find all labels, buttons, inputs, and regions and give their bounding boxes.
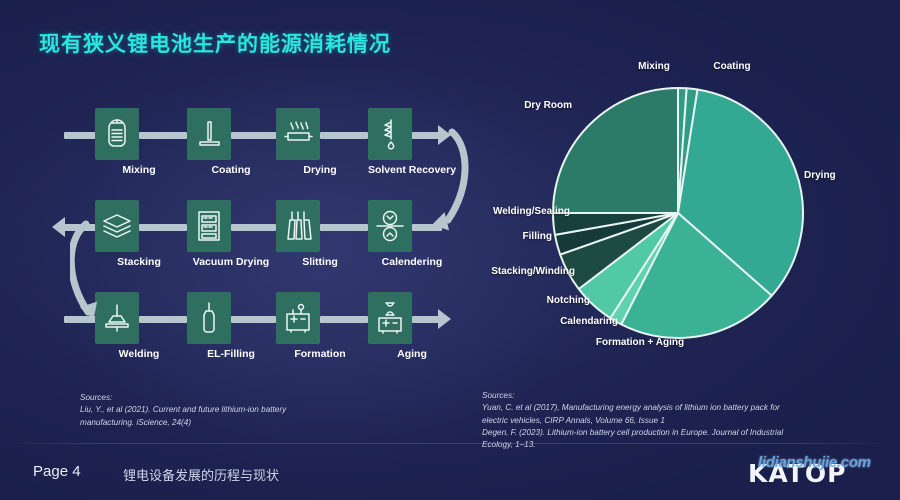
flow-step-tile-calendering[interactable] bbox=[368, 200, 412, 252]
mixer-tank-icon bbox=[102, 117, 132, 151]
flow-connector bbox=[231, 132, 276, 139]
drying-oven-icon bbox=[283, 117, 313, 151]
stacked-sheets-icon bbox=[101, 210, 133, 242]
flow-connector bbox=[320, 316, 368, 323]
flow-step-tile-vacuum-drying[interactable] bbox=[187, 200, 231, 252]
flow-connector bbox=[64, 132, 98, 139]
flow-step-tile-drying[interactable] bbox=[276, 108, 320, 160]
energy-consumption-pie-chart: MixingCoatingDryingFormation + AgingCale… bbox=[440, 55, 900, 375]
flow-sources-line: Liu, Y., et al (2021). Current and futur… bbox=[80, 404, 380, 416]
flow-sources-line: manufacturing. iScience, 24(4) bbox=[80, 417, 380, 429]
pie-label-drying: Drying bbox=[804, 170, 836, 181]
watermark-text: lidianshujie.com bbox=[758, 454, 871, 471]
pie-label-filling: Filling bbox=[523, 231, 552, 242]
pie-sources-heading: Sources: bbox=[482, 390, 872, 402]
flow-arrow-left-icon bbox=[52, 217, 65, 237]
process-flow-diagram: Mixing Coating Drying Solvent Recovery S… bbox=[70, 108, 440, 373]
flow-sources-heading: Sources: bbox=[80, 392, 380, 404]
pie-sources-line: Ecology, 1–13. bbox=[482, 439, 872, 451]
flow-step-tile-slitting[interactable] bbox=[276, 200, 320, 252]
flow-connector bbox=[64, 316, 98, 323]
pie-label-stacking-winding: Stacking/Winding bbox=[491, 266, 575, 277]
flow-step-tile-aging[interactable] bbox=[368, 292, 412, 344]
flow-sources: Sources: Liu, Y., et al (2021). Current … bbox=[80, 392, 380, 429]
flow-step-tile-coating[interactable] bbox=[187, 108, 231, 160]
pie-sources-line: electric vehicles, CIRP Annals, Volume 6… bbox=[482, 415, 872, 427]
flow-connector bbox=[139, 224, 187, 231]
flow-step-tile-el-filling[interactable] bbox=[187, 292, 231, 344]
page-number: Page 4 bbox=[33, 463, 81, 480]
calender-rollers-icon bbox=[374, 209, 406, 243]
flow-step-tile-welding[interactable] bbox=[95, 292, 139, 344]
flow-row-1: Mixing Coating Drying Solvent Recovery bbox=[70, 108, 440, 188]
flow-connector bbox=[412, 224, 442, 231]
flow-connector bbox=[231, 316, 276, 323]
coating-blade-icon bbox=[194, 117, 224, 151]
flow-step-tile-solvent-recovery[interactable] bbox=[368, 108, 412, 160]
page-title: 现有狭义锂电池生产的能源消耗情况 bbox=[39, 28, 391, 58]
formation-battery-icon bbox=[282, 302, 314, 334]
pie-sources-line: Yuan, C. et al (2017), Manufacturing ene… bbox=[482, 402, 872, 414]
pie-label-notching: Notching bbox=[547, 295, 590, 306]
flow-connector bbox=[139, 316, 187, 323]
pie-sources-line: Degen, F. (2023). Lithium-ion battery ce… bbox=[482, 427, 872, 439]
flow-step-tile-stacking[interactable] bbox=[95, 200, 139, 252]
flow-step-tile-mixing[interactable] bbox=[95, 108, 139, 160]
pie-label-dry-room: Dry Room bbox=[524, 100, 572, 111]
pie-label-mixing: Mixing bbox=[638, 61, 670, 72]
pie-label-calendaring: Calendaring bbox=[560, 316, 618, 327]
welding-torch-icon bbox=[101, 302, 133, 334]
pie-label-coating: Coating bbox=[713, 61, 750, 72]
electrolyte-filling-icon bbox=[195, 301, 223, 335]
slitting-blades-icon bbox=[283, 209, 313, 243]
aging-battery-icon bbox=[375, 301, 405, 335]
footer-subtitle: 锂电设备发展的历程与现状 bbox=[123, 465, 279, 484]
vacuum-oven-icon bbox=[195, 209, 223, 243]
flow-connector bbox=[139, 132, 187, 139]
slide-canvas: 现有狭义锂电池生产的能源消耗情况 Mixing Coating Drying S… bbox=[0, 0, 900, 500]
flow-connector bbox=[64, 224, 98, 231]
pie-label-welding-sealing: Welding/Sealing bbox=[493, 206, 570, 217]
flow-connector bbox=[320, 224, 368, 231]
flow-row-3: Welding EL-Filling Formation Aging bbox=[70, 292, 440, 372]
pie-label-formation-aging: Formation + Aging bbox=[596, 337, 684, 348]
flow-connector bbox=[231, 224, 276, 231]
flow-step-tile-formation[interactable] bbox=[276, 292, 320, 344]
brand-logo: KATOP lidianshujie.com bbox=[748, 455, 878, 489]
flow-row-2: Stacking Vacuum Drying Slitting Calender… bbox=[70, 200, 440, 280]
solvent-recovery-icon bbox=[375, 117, 405, 151]
footer-divider bbox=[0, 443, 900, 444]
flow-connector bbox=[320, 132, 368, 139]
